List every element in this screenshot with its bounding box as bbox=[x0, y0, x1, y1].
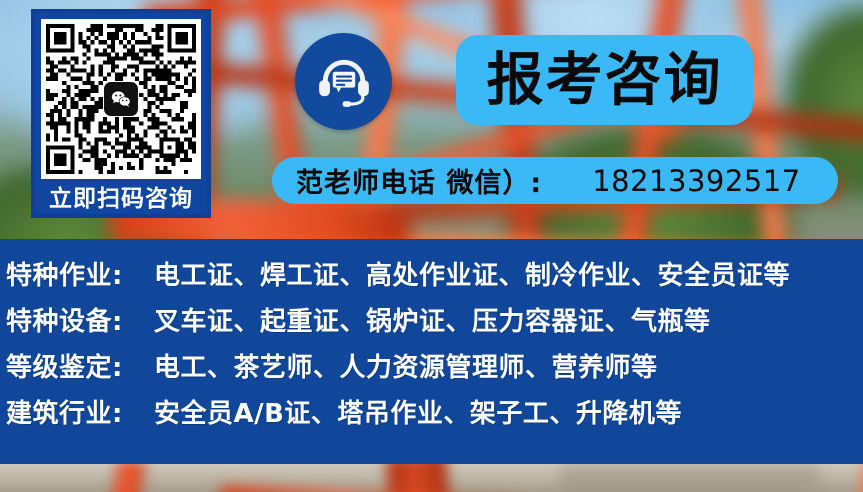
wechat-logo-icon bbox=[104, 82, 138, 116]
list-item: 等级鉴定: 电工、茶艺师、人力资源管理师、营养师等 bbox=[0, 347, 863, 393]
category-label: 建筑行业: bbox=[6, 393, 154, 430]
category-items: 电工、茶艺师、人力资源管理师、营养师等 bbox=[154, 347, 658, 384]
qr-code-image[interactable] bbox=[41, 19, 201, 179]
list-item: 建筑行业: 安全员A/B证、塔吊作业、架子工、升降机等 bbox=[0, 393, 863, 439]
qr-caption: 立即扫码咨询 bbox=[41, 179, 201, 219]
category-items: 叉车证、起重证、锅炉证、压力容器证、气瓶等 bbox=[154, 301, 711, 338]
category-label: 特种设备: bbox=[6, 301, 154, 338]
list-item: 特种设备: 叉车证、起重证、锅炉证、压力容器证、气瓶等 bbox=[0, 301, 863, 347]
title-pill: 报考咨询 bbox=[456, 35, 753, 125]
contact-pill[interactable]: 范老师电话 微信）: 18213392517 bbox=[272, 157, 838, 204]
category-items: 安全员A/B证、塔吊作业、架子工、升降机等 bbox=[154, 393, 682, 430]
category-label: 等级鉴定: bbox=[6, 347, 154, 384]
contact-phone-number[interactable]: 18213392517 bbox=[592, 164, 800, 198]
list-item: 特种作业: 电工证、焊工证、高处作业证、制冷作业、安全员证等 bbox=[0, 255, 863, 301]
course-list-panel: 特种作业: 电工证、焊工证、高处作业证、制冷作业、安全员证等 特种设备: 叉车证… bbox=[0, 239, 863, 465]
headset-support-badge[interactable] bbox=[295, 33, 392, 130]
qr-code-card[interactable]: 立即扫码咨询 bbox=[31, 9, 211, 218]
background-photo-bottom bbox=[0, 464, 863, 492]
category-items: 电工证、焊工证、高处作业证、制冷作业、安全员证等 bbox=[154, 255, 790, 292]
advertisement-banner: 立即扫码咨询 报考咨询 范老师电话 微信）: 18213392517 特种作业:… bbox=[0, 0, 863, 492]
contact-label: 范老师电话 微信）: bbox=[296, 161, 542, 200]
background-photo-bottom-blur-layer bbox=[0, 464, 863, 492]
page-title: 报考咨询 bbox=[487, 52, 723, 109]
category-label: 特种作业: bbox=[6, 255, 154, 292]
headset-support-icon bbox=[314, 52, 374, 112]
